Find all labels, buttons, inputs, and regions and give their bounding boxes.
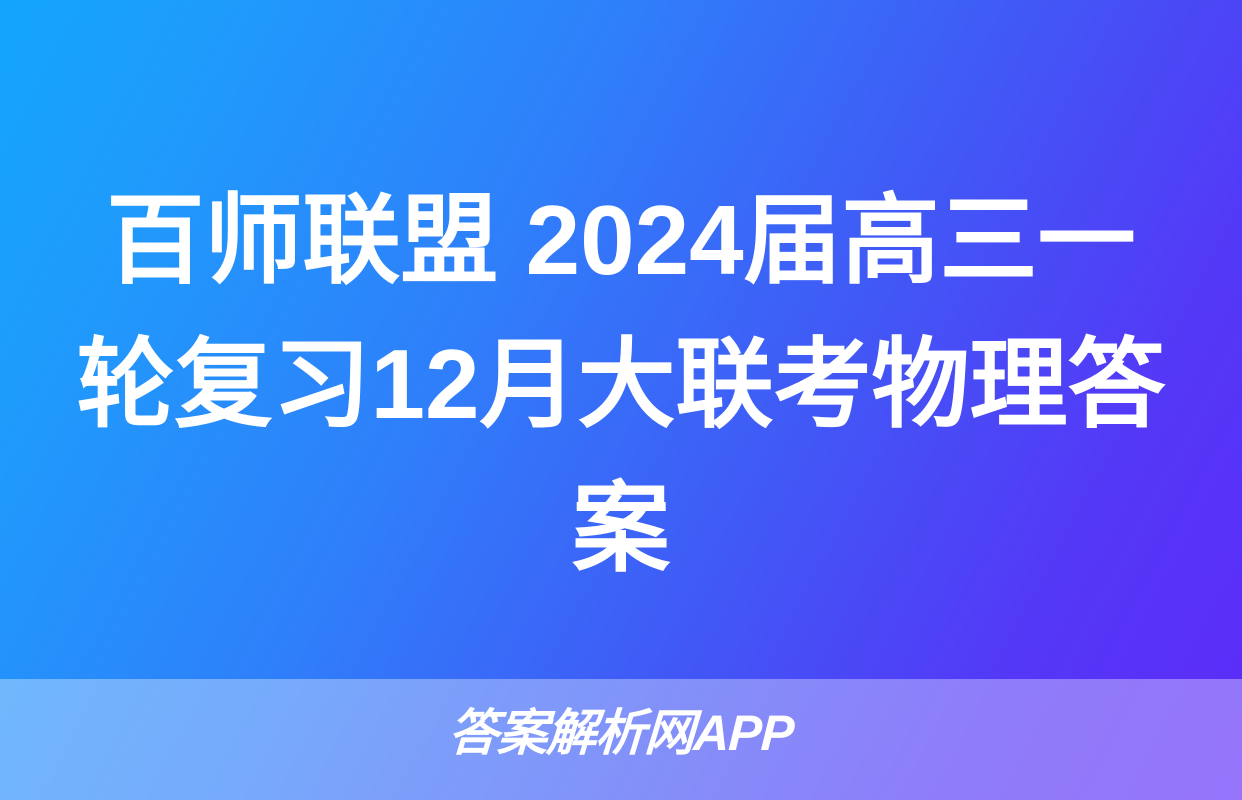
- title-line-3: 案: [72, 456, 1170, 600]
- app-watermark: 答案解析网APP: [0, 702, 1242, 764]
- title-line-2: 轮复习12月大联考物理答: [72, 312, 1170, 456]
- app-watermark-label: 答案解析网APP: [447, 708, 794, 758]
- page-title: 百师联盟 2024届高三一 轮复习12月大联考物理答 案: [0, 168, 1242, 600]
- poster-canvas: 百师联盟 2024届高三一 轮复习12月大联考物理答 案 答案解析网APP: [0, 0, 1242, 800]
- title-line-1: 百师联盟 2024届高三一: [72, 168, 1170, 312]
